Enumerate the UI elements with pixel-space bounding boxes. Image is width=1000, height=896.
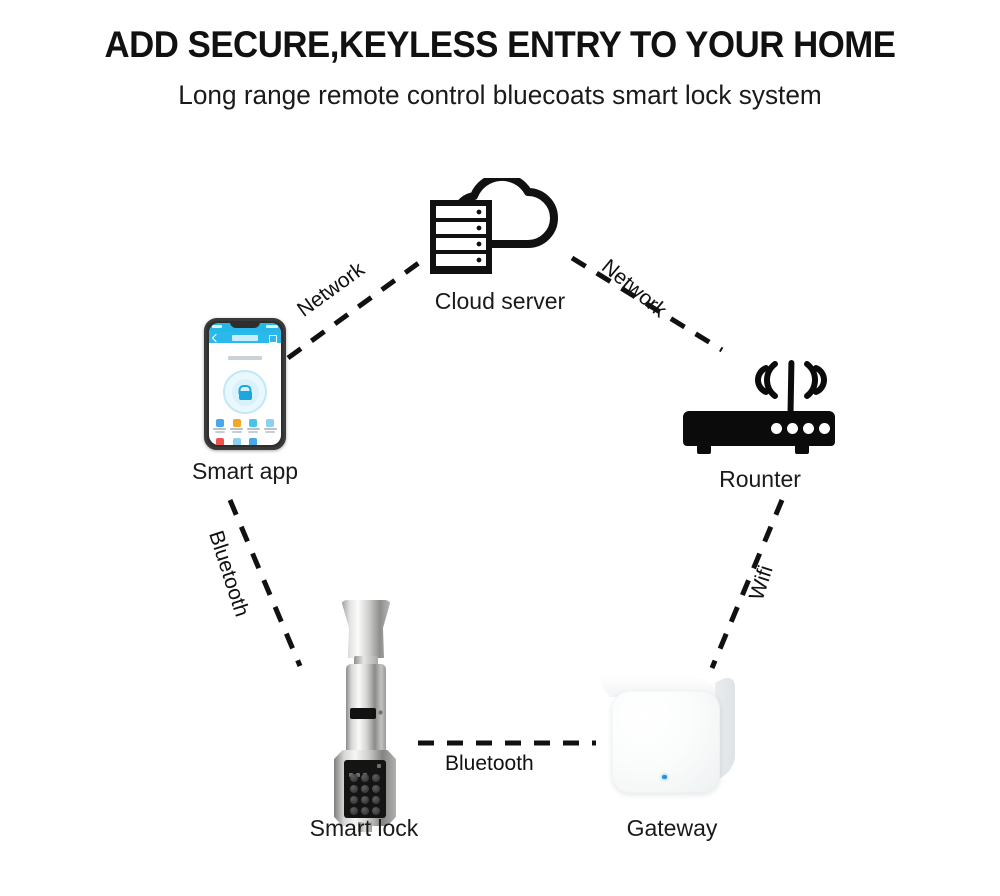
diagram-canvas: ADD SECURE,KEYLESS ENTRY TO YOUR HOME Lo… <box>0 0 1000 896</box>
page-subtitle: Long range remote control bluecoats smar… <box>15 80 985 111</box>
keypad-key-6 <box>372 785 380 793</box>
router-signal-waves-icon <box>683 356 835 416</box>
router-foot-right <box>795 445 809 454</box>
back-arrow-icon[interactable] <box>212 334 220 342</box>
app-top-bar <box>209 332 281 343</box>
router-foot-left <box>697 445 711 454</box>
gateway-label: Gateway <box>572 815 772 842</box>
smartphone-icon[interactable] <box>204 318 286 450</box>
lock-thumb-turn-knob <box>341 600 391 658</box>
edge-label-bluetooth-app-lock: Bluetooth <box>203 528 253 620</box>
app-lock-button[interactable] <box>223 370 267 414</box>
gateway-icon[interactable] <box>610 675 735 795</box>
gateway-status-led <box>662 775 667 779</box>
edge-label-network-right: Network <box>597 255 671 323</box>
app-icon-security[interactable] <box>229 438 245 445</box>
cloud-server-node[interactable] <box>420 178 580 288</box>
app-icon-settings[interactable] <box>246 438 262 445</box>
smart-app-label: Smart app <box>145 458 345 485</box>
phone-notch <box>230 321 260 328</box>
app-icon-spacer <box>262 438 278 445</box>
app-icon-temp-password[interactable] <box>229 419 245 433</box>
lock-screw <box>378 710 383 715</box>
app-icon-ic-card[interactable] <box>212 438 228 445</box>
app-title-text <box>232 335 258 341</box>
app-icon-grid-row1 <box>209 419 281 433</box>
router-led-3 <box>803 423 814 434</box>
app-icon-records[interactable] <box>246 419 262 433</box>
keypad-key-1 <box>350 774 358 782</box>
router-led-4 <box>819 423 830 434</box>
device-name-line <box>209 343 281 365</box>
router-led-1 <box>771 423 782 434</box>
keypad-key-hash <box>372 807 380 815</box>
keypad-key-2 <box>361 774 369 782</box>
keypad-key-3 <box>372 774 380 782</box>
edge-label-network-left: Network <box>293 258 369 323</box>
app-lock-inner-ring <box>232 379 259 406</box>
smart-lock-icon[interactable] <box>318 600 410 805</box>
padlock-icon <box>239 385 252 400</box>
smart-lock-label: Smart lock <box>264 815 464 842</box>
app-icon-remote-unlock[interactable] <box>212 419 228 433</box>
rounter-label: Rounter <box>660 466 860 493</box>
edge-label-wifi: Wifi <box>745 563 779 604</box>
app-icon-permission[interactable] <box>262 419 278 433</box>
cloud-server-label: Cloud server <box>400 288 600 315</box>
keypad-key-star <box>350 807 358 815</box>
keypad-key-4 <box>350 785 358 793</box>
lock-cam-window <box>350 708 376 719</box>
keypad-key-5 <box>361 785 369 793</box>
router-led-2 <box>787 423 798 434</box>
router-body <box>683 411 835 446</box>
app-icon-grid-row2 <box>209 438 281 445</box>
status-signal-icon <box>212 325 222 328</box>
keypad-key-0 <box>361 807 369 815</box>
keypad-key-8 <box>361 796 369 804</box>
keypad-key-7 <box>350 796 358 804</box>
keypad-key-9 <box>372 796 380 804</box>
menu-icon[interactable] <box>269 335 277 343</box>
router-icon[interactable] <box>683 360 835 460</box>
page-title: ADD SECURE,KEYLESS ENTRY TO YOUR HOME <box>30 24 970 66</box>
cloud-server-icon <box>420 178 580 288</box>
lock-keypad-panel[interactable] <box>344 760 386 818</box>
router-antenna <box>788 360 795 412</box>
keypad-indicator-icons <box>349 764 381 770</box>
edge-label-bluetooth-lock-gateway: Bluetooth <box>445 752 534 776</box>
phone-screen <box>209 323 281 445</box>
status-battery-icon <box>266 325 278 328</box>
keypad-keys[interactable] <box>350 774 380 815</box>
